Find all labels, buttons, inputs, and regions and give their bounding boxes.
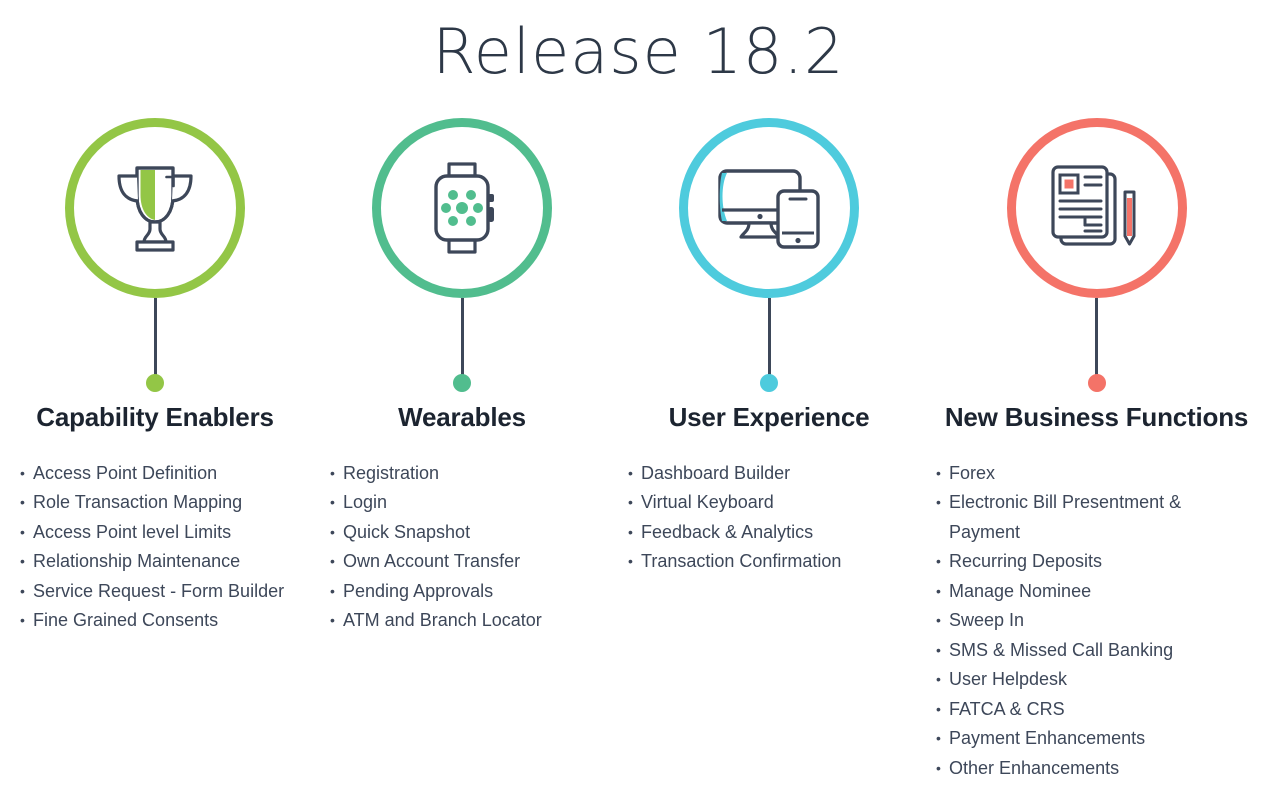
- feature-list: Registration Login Quick Snapshot Own Ac…: [312, 459, 612, 636]
- icon-ring-capability-enablers: [65, 118, 245, 298]
- list-item: Access Point level Limits: [20, 518, 304, 548]
- connector-dot: [760, 374, 778, 392]
- list-item: Relationship Maintenance: [20, 547, 304, 577]
- list-item: Role Transaction Mapping: [20, 488, 304, 518]
- monitor-mobile-icon: [714, 153, 824, 263]
- icon-ring-new-business-functions: [1007, 118, 1187, 298]
- list-item: Recurring Deposits: [936, 547, 1263, 577]
- document-pen-icon: [1042, 153, 1152, 263]
- list-item: Payment Enhancements: [936, 724, 1263, 754]
- column-new-business-functions: New Business Functions Forex Electronic …: [924, 118, 1269, 783]
- list-item: SMS & Missed Call Banking: [936, 636, 1263, 666]
- columns-container: Capability Enablers Access Point Definit…: [0, 118, 1277, 783]
- list-item: Other Enhancements: [936, 754, 1263, 784]
- list-item: Sweep In: [936, 606, 1263, 636]
- column-heading: User Experience: [669, 403, 870, 433]
- page-title: Release 18.2: [0, 18, 1277, 86]
- connector-dot: [1088, 374, 1106, 392]
- connector-dot: [453, 374, 471, 392]
- connector-stem: [768, 298, 771, 376]
- list-item: Manage Nominee: [936, 577, 1263, 607]
- column-heading: New Business Functions: [945, 403, 1248, 433]
- list-item: User Helpdesk: [936, 665, 1263, 695]
- icon-ring-user-experience: [679, 118, 859, 298]
- icon-ring-wearables: [372, 118, 552, 298]
- list-item: Quick Snapshot: [330, 518, 606, 548]
- feature-list: Access Point Definition Role Transaction…: [0, 459, 310, 636]
- feature-list: Dashboard Builder Virtual Keyboard Feedb…: [614, 459, 924, 577]
- list-item: Service Request - Form Builder: [20, 577, 304, 607]
- connector-stem: [154, 298, 157, 376]
- list-item: FATCA & CRS: [936, 695, 1263, 725]
- list-item: ATM and Branch Locator: [330, 606, 606, 636]
- list-item: Pending Approvals: [330, 577, 606, 607]
- column-user-experience: User Experience Dashboard Builder Virtua…: [614, 118, 924, 577]
- column-wearables: Wearables Registration Login Quick Snaps…: [312, 118, 612, 636]
- list-item: Own Account Transfer: [330, 547, 606, 577]
- list-item: Fine Grained Consents: [20, 606, 304, 636]
- list-item: Registration: [330, 459, 606, 489]
- feature-list: Forex Electronic Bill Presentment & Paym…: [924, 459, 1269, 784]
- list-item: Login: [330, 488, 606, 518]
- list-item: Forex: [936, 459, 1263, 489]
- connector-stem: [1095, 298, 1098, 376]
- infographic-page: Release 18.2: [0, 0, 1277, 792]
- list-item: Dashboard Builder: [628, 459, 918, 489]
- connector-dot: [146, 374, 164, 392]
- list-item: Feedback & Analytics: [628, 518, 918, 548]
- trophy-icon: [100, 153, 210, 263]
- list-item: Electronic Bill Presentment & Payment: [936, 488, 1263, 547]
- column-capability-enablers: Capability Enablers Access Point Definit…: [0, 118, 310, 636]
- list-item: Transaction Confirmation: [628, 547, 918, 577]
- smartwatch-icon: [407, 153, 517, 263]
- list-item: Virtual Keyboard: [628, 488, 918, 518]
- column-heading: Capability Enablers: [36, 403, 274, 433]
- column-heading: Wearables: [398, 403, 526, 433]
- connector-stem: [461, 298, 464, 376]
- list-item: Access Point Definition: [20, 459, 304, 489]
